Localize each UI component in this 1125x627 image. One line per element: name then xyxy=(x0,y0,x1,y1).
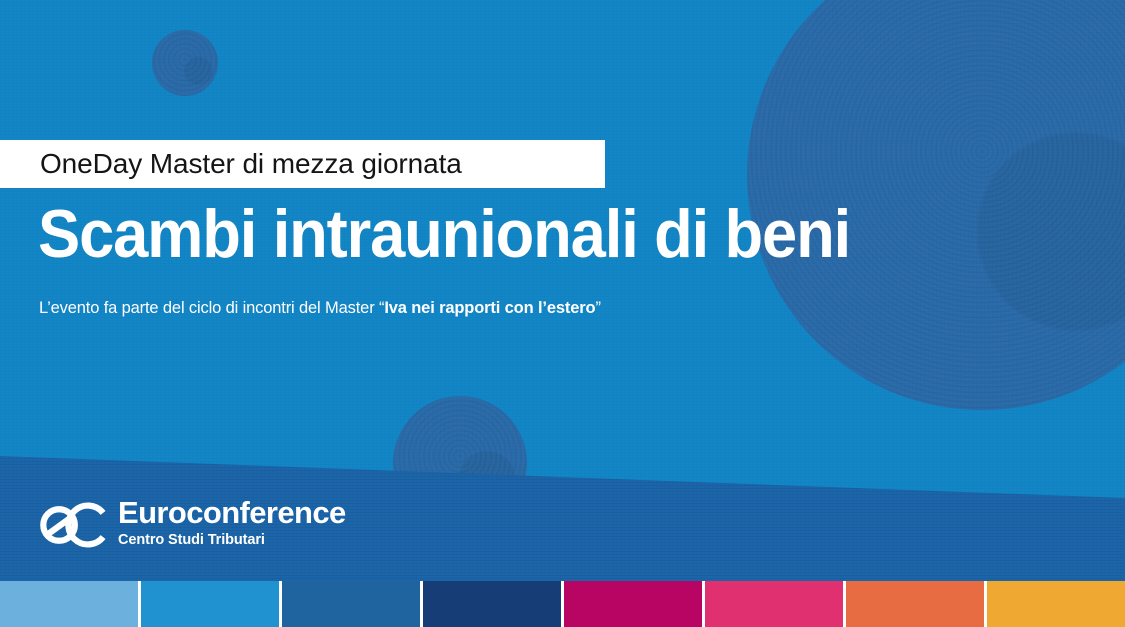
color-swatch-magenta xyxy=(564,581,702,627)
color-swatch-orange xyxy=(846,581,984,627)
color-swatch-navy xyxy=(423,581,561,627)
subtitle-prefix: L’evento fa parte del ciclo di incontri … xyxy=(39,298,384,317)
subtitle-suffix: ” xyxy=(595,298,600,317)
eyebrow-badge: OneDay Master di mezza giornata xyxy=(0,140,605,188)
page-title: Scambi intraunionali di beni xyxy=(38,200,850,269)
color-strip xyxy=(0,581,1125,627)
event-banner: OneDay Master di mezza giornata Scambi i… xyxy=(0,0,1125,627)
color-swatch-amber xyxy=(987,581,1125,627)
logo-name: Euroconference xyxy=(118,497,346,530)
logo-tagline: Centro Studi Tributari xyxy=(118,532,346,548)
logo-text-block: Euroconference Centro Studi Tributari xyxy=(118,497,346,548)
eyebrow-label: OneDay Master di mezza giornata xyxy=(0,148,462,180)
subtitle: L’evento fa parte del ciclo di incontri … xyxy=(39,298,601,318)
subtitle-emphasis: Iva nei rapporti con l’estero xyxy=(384,298,595,317)
color-swatch-light-blue xyxy=(0,581,138,627)
color-swatch-pink xyxy=(705,581,843,627)
ec-monogram-icon xyxy=(40,500,106,550)
color-swatch-steel-blue xyxy=(282,581,420,627)
color-swatch-azure xyxy=(141,581,279,627)
brand-logo: Euroconference Centro Studi Tributari xyxy=(40,497,346,550)
decorative-circle-small xyxy=(152,30,218,96)
